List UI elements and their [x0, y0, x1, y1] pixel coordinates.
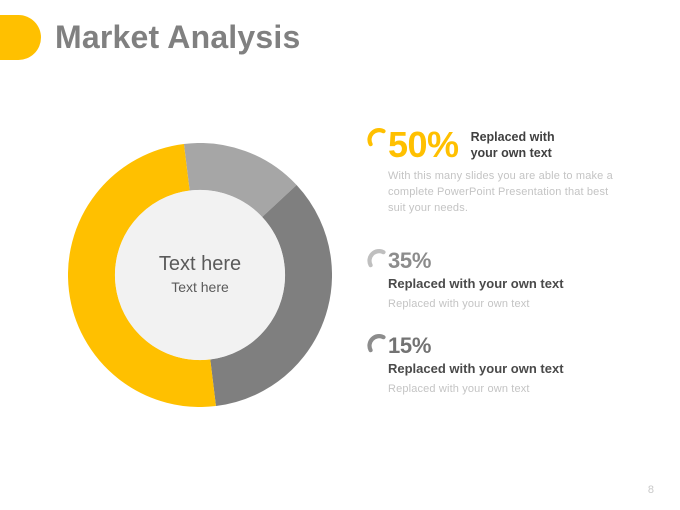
stat-value: 35% — [388, 249, 666, 273]
stat-title-line-2: your own text — [471, 145, 555, 161]
page-title: Market Analysis — [55, 21, 300, 53]
page-number: 8 — [648, 484, 654, 496]
stat-description: With this many slides you are able to ma… — [388, 169, 628, 217]
stat-item-35[interactable]: 35% Replaced with your own text Replaced… — [366, 249, 666, 310]
stat-header: 50% Replaced with your own text — [388, 128, 666, 162]
arc-accent-icon — [366, 249, 390, 273]
arc-accent-icon — [366, 128, 390, 152]
stat-title: Replaced with your own text — [388, 276, 666, 292]
donut-chart: Text here Text here — [68, 143, 332, 407]
stat-value: 50% — [388, 128, 459, 162]
stat-title: Replaced with your own text — [388, 361, 666, 377]
stats-panel: 50% Replaced with your own text With thi… — [366, 128, 666, 395]
stat-description: Replaced with your own text — [388, 298, 666, 310]
stat-item-50[interactable]: 50% Replaced with your own text With thi… — [366, 128, 666, 217]
slide-header: Market Analysis — [0, 13, 300, 61]
stat-title-line-1: Replaced with — [471, 129, 555, 145]
stat-description: Replaced with your own text — [388, 383, 666, 395]
stat-item-15[interactable]: 15% Replaced with your own text Replaced… — [366, 334, 666, 395]
arc-accent-icon — [366, 334, 390, 358]
stat-title: Replaced with your own text — [471, 129, 555, 162]
stat-value: 15% — [388, 334, 666, 358]
donut-inner-circle — [115, 190, 285, 360]
title-accent-shape — [0, 15, 41, 60]
donut-chart-svg — [68, 143, 332, 407]
